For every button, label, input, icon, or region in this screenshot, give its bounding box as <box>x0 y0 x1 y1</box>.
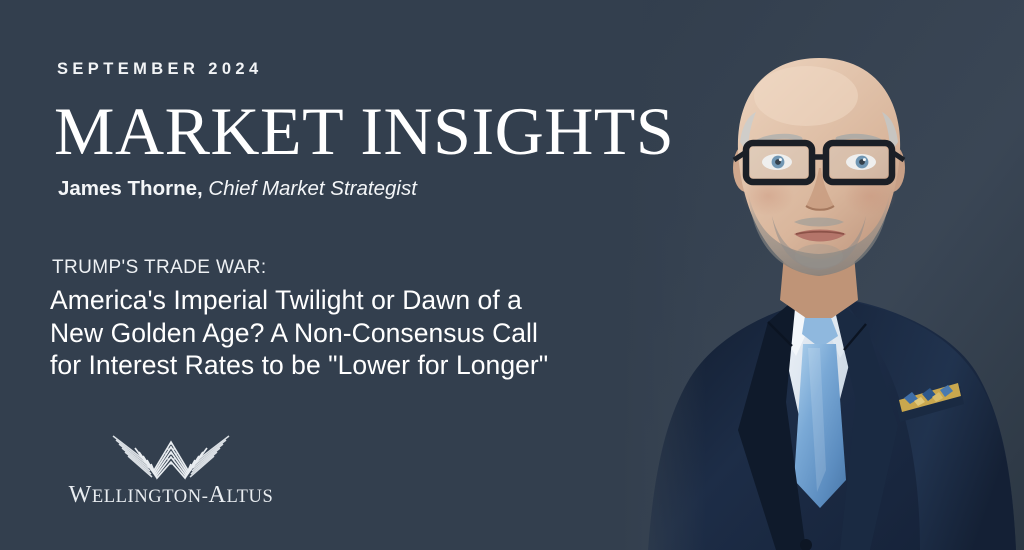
scalp-highlight <box>754 66 858 126</box>
headline-line: for Interest Rates to be "Lower for Long… <box>50 349 548 382</box>
logo-word-dash: - <box>202 487 209 507</box>
byline: James Thorne, Chief Market Strategist <box>58 176 417 202</box>
logo-wing-right <box>190 436 229 477</box>
page-title: MARKET INSIGHTS <box>54 94 674 168</box>
author-name: James Thorne, <box>58 177 203 200</box>
logo-w-chevrons <box>135 442 207 478</box>
logo-word-rest-2: LTUS <box>226 487 273 507</box>
wellington-altus-chevron-mark <box>107 428 235 480</box>
portrait-photo <box>620 0 1024 550</box>
author-role: Chief Market Strategist <box>208 177 417 200</box>
market-insights-banner: SEPTEMBER 2024 MARKET INSIGHTS James Tho… <box>0 0 1024 550</box>
logo-wordmark: WELLINGTON-ALTUS <box>55 482 287 509</box>
logo-word-lead: W <box>69 482 92 508</box>
logo-word-rest: ELLINGTON <box>92 487 202 507</box>
headline-line: New Golden Age? A Non-Consensus Call <box>50 317 548 350</box>
wellington-altus-logo: WELLINGTON-ALTUS <box>55 428 287 509</box>
chin-shadow <box>795 244 843 268</box>
article-kicker: TRUMP'S TRADE WAR: <box>52 257 267 279</box>
issue-date: SEPTEMBER 2024 <box>57 60 263 79</box>
logo-wing-left <box>113 436 152 477</box>
headline-line: America's Imperial Twilight or Dawn of a <box>50 284 548 317</box>
article-headline: America's Imperial Twilight or Dawn of a… <box>50 284 548 382</box>
portrait-illustration <box>620 0 1024 550</box>
logo-word-lead-2: A <box>209 482 227 508</box>
